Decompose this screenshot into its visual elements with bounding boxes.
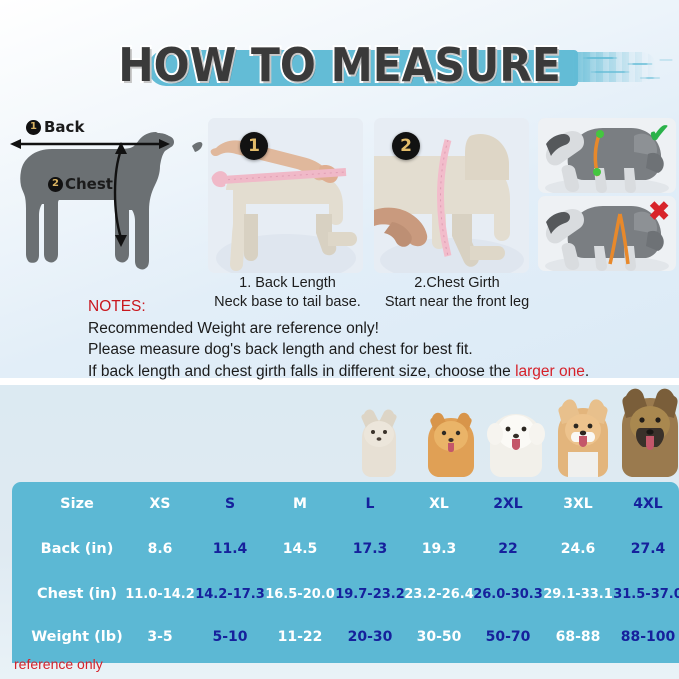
chest-cell-xs: 11.0-14.2 [125,572,195,616]
chest-girth-arrow [110,142,132,247]
size-cell-l: L [335,482,405,526]
notes-line-2: Please measure dog's back length and che… [88,339,648,361]
back-cell-2xl: 22 [473,527,543,571]
back-cell-3xl: 24.6 [543,527,613,571]
notes-block: NOTES: Recommended Weight are reference … [88,296,648,382]
photo-correct-position: ✔ [538,118,676,193]
back-cell-m: 14.5 [265,527,335,571]
table-row-chest: Chest (in) 11.0-14.2 14.2-17.3 16.5-20.0… [12,572,679,616]
photo-incorrect-position: ✖ [538,196,676,271]
page-title: HOW TO MEASURE [27,36,652,94]
back-label-text: Back [44,118,84,136]
chest-cell-l: 19.7-23.2 [335,572,405,616]
size-cell-3xl: 3XL [543,482,613,526]
table-row-back: Back (in) 8.6 11.4 14.5 17.3 19.3 22 24.… [12,527,679,571]
size-cell-m: M [265,482,335,526]
chest-cell-xl: 23.2-26.4 [404,572,474,616]
row-label-back: Back (in) [12,527,142,571]
step-1-badge: 1 [240,132,268,160]
bichon-icon [487,414,545,477]
table-row-weight: Weight (lb) 3-5 5-10 11-22 20-30 30-50 5… [12,615,679,659]
step-2-badge: 2 [392,132,420,160]
chest-cell-3xl: 29.1-33.1 [543,572,613,616]
weight-cell-xl: 30-50 [404,615,474,659]
caption-back-line1: 1. Back Length [205,274,370,293]
back-cell-xl: 19.3 [404,527,474,571]
corgi-icon [558,399,608,477]
pomeranian-icon [428,413,474,477]
weight-cell-3xl: 68-88 [543,615,613,659]
back-length-photo-illustration [208,118,363,273]
dog-measurement-diagram: 1 Back 2 Chest [4,118,204,278]
size-cell-4xl: 4XL [613,482,679,526]
back-label: 1 Back [26,118,84,136]
back-cell-4xl: 27.4 [613,527,679,571]
weight-cell-xs: 3-5 [125,615,195,659]
chest-label: 2 Chest [48,175,113,193]
weight-cell-2xl: 50-70 [473,615,543,659]
back-cell-l: 17.3 [335,527,405,571]
photo-back-length: 1 [208,118,363,273]
caption-chest-line1: 2.Chest Girth [372,274,542,293]
weight-cell-s: 5-10 [195,615,265,659]
back-cell-s: 11.4 [195,527,265,571]
notes-line-3-pre: If back length and chest girth falls in … [88,363,515,380]
photo-chest-girth: 2 [374,118,529,273]
size-cell-xl: XL [404,482,474,526]
chest-cell-4xl: 31.5-37.0 [613,572,679,616]
weight-cell-4xl: 88-100 [613,615,679,659]
notes-line-3-post: . [585,363,589,380]
size-cell-s: S [195,482,265,526]
chihuahua-icon [361,410,396,477]
size-guide-page: HOW TO MEASURE 1 Back 2 Chest [0,0,679,679]
notes-heading: NOTES: [88,296,648,318]
checkmark-icon: ✔ [648,120,670,146]
badge-two-icon: 2 [48,177,63,192]
badge-one-icon: 1 [26,120,41,135]
row-label-weight: Weight (lb) [12,615,142,659]
size-cell-2xl: 2XL [473,482,543,526]
chest-label-text: Chest [65,175,113,193]
table-row-sizes: Size XS S M L XL 2XL 3XL 4XL [12,482,679,526]
reference-only-note: reference only [14,656,103,672]
weight-cell-l: 20-30 [335,615,405,659]
row-label-chest: Chest (in) [12,572,142,616]
chest-cell-2xl: 26.0-30.3 [473,572,543,616]
row-label-size: Size [12,482,142,526]
back-cell-xs: 8.6 [125,527,195,571]
notes-line-3: If back length and chest girth falls in … [88,361,648,383]
cross-icon: ✖ [648,198,670,224]
back-length-arrow [10,137,170,151]
weight-cell-m: 11-22 [265,615,335,659]
notes-line-3-highlight: larger one [515,363,585,380]
size-cell-xs: XS [125,482,195,526]
dog-breeds-illustration [340,388,679,483]
chest-cell-m: 16.5-20.0 [265,572,335,616]
chest-cell-s: 14.2-17.3 [195,572,265,616]
size-chart-table: Size XS S M L XL 2XL 3XL 4XL Back (in) 8… [12,482,679,663]
title-banner: HOW TO MEASURE [0,36,679,98]
dog-breed-size-strip [340,388,679,483]
notes-line-1: Recommended Weight are reference only! [88,318,648,340]
german-shepherd-icon [622,389,678,477]
